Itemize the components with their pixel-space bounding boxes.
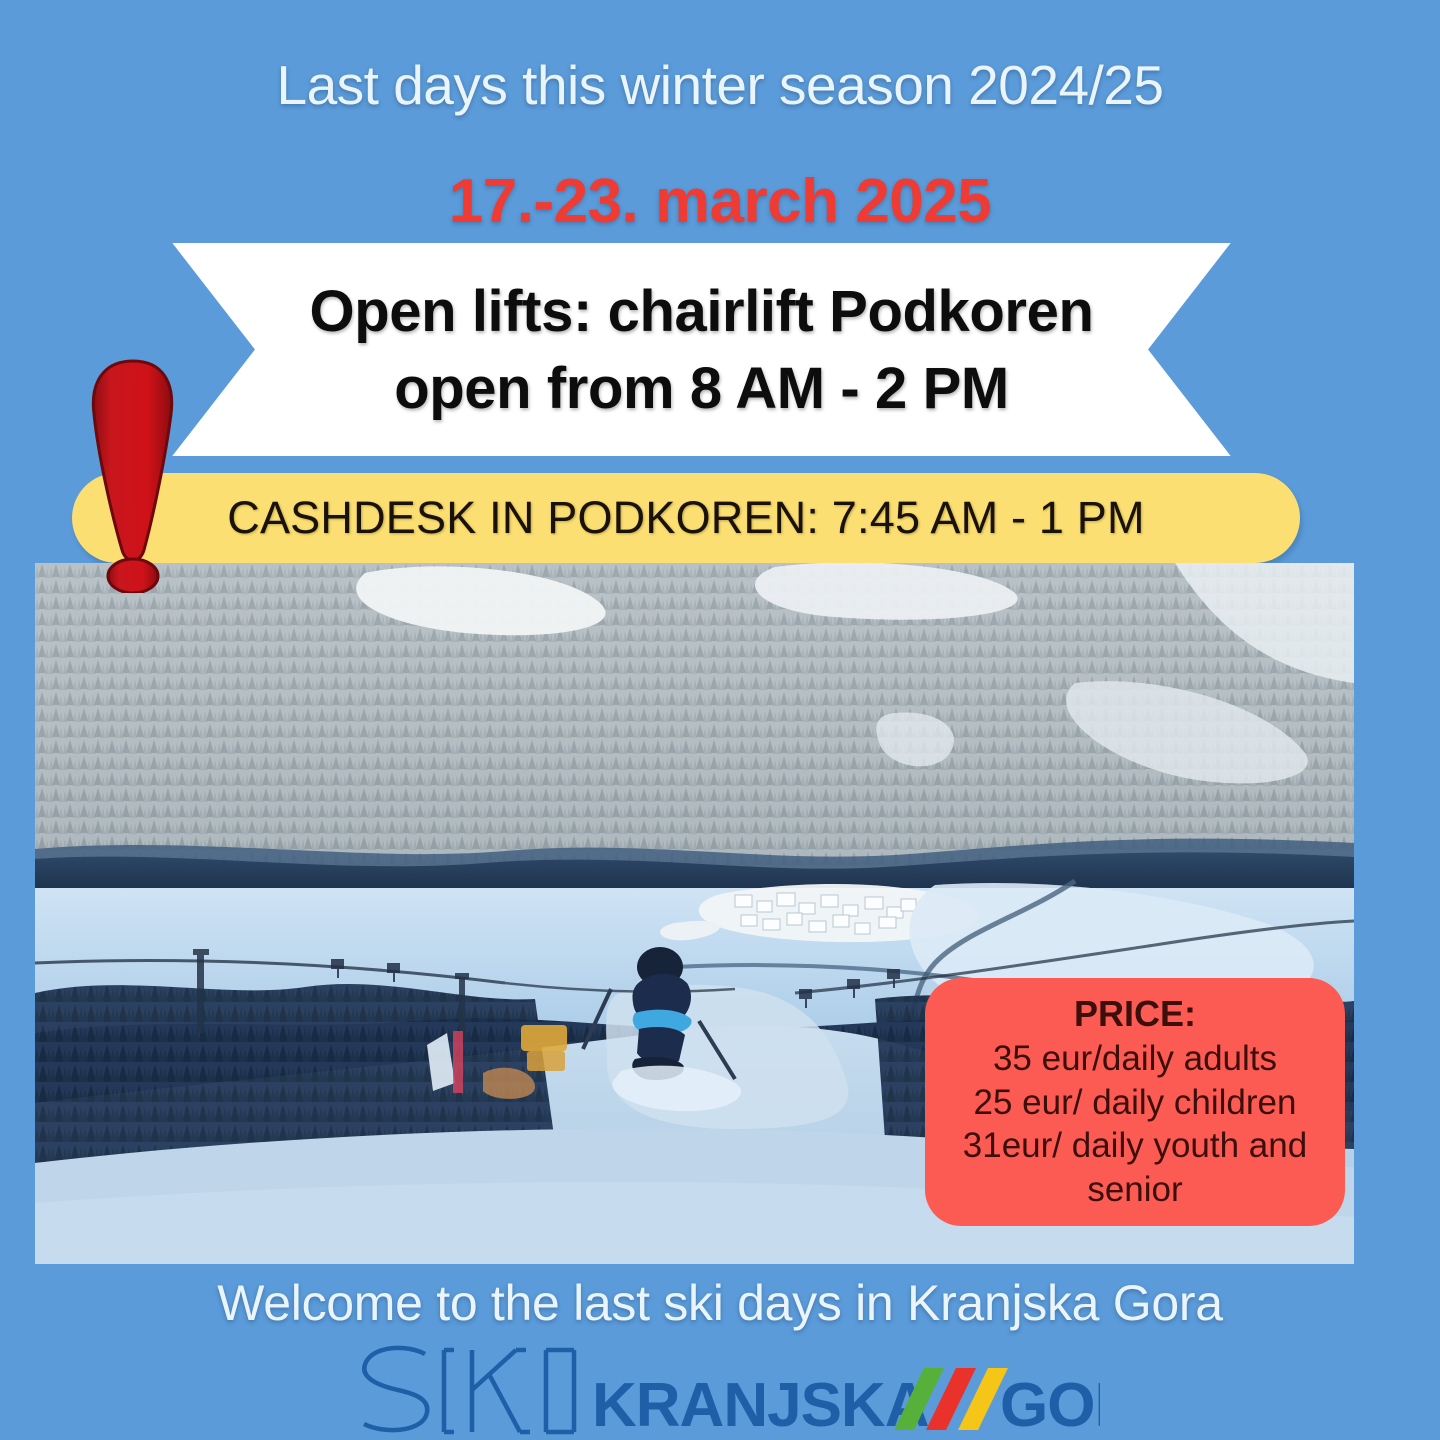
ski-kranjska-gora-logo: KRANJSKA GORA	[0, 1335, 1440, 1440]
welcome-text: Welcome to the last ski days in Kranjska…	[0, 1274, 1440, 1332]
svg-text:KRANJSKA: KRANJSKA	[592, 1371, 929, 1438]
cashdesk-pill: CASHDESK IN PODKOREN: 7:45 AM - 1 PM	[72, 473, 1300, 563]
price-line-adults: 35 eur/daily adults	[993, 1037, 1277, 1080]
svg-text:GORA: GORA	[1000, 1371, 1100, 1438]
price-line-youth-senior: 31eur/ daily youth and senior	[935, 1124, 1335, 1211]
open-lifts-banner	[35, 243, 1368, 456]
season-heading: Last days this winter season 2024/25	[0, 53, 1440, 117]
price-title: PRICE:	[1074, 993, 1196, 1035]
cashdesk-label: CASHDESK IN PODKOREN: 7:45 AM - 1 PM	[227, 492, 1144, 544]
price-line-children: 25 eur/ daily children	[974, 1081, 1297, 1124]
price-box: PRICE: 35 eur/daily adults 25 eur/ daily…	[925, 978, 1345, 1226]
date-heading: 17.-23. march 2025	[0, 166, 1440, 237]
poster-root: Last days this winter season 2024/25 17.…	[0, 0, 1440, 1440]
